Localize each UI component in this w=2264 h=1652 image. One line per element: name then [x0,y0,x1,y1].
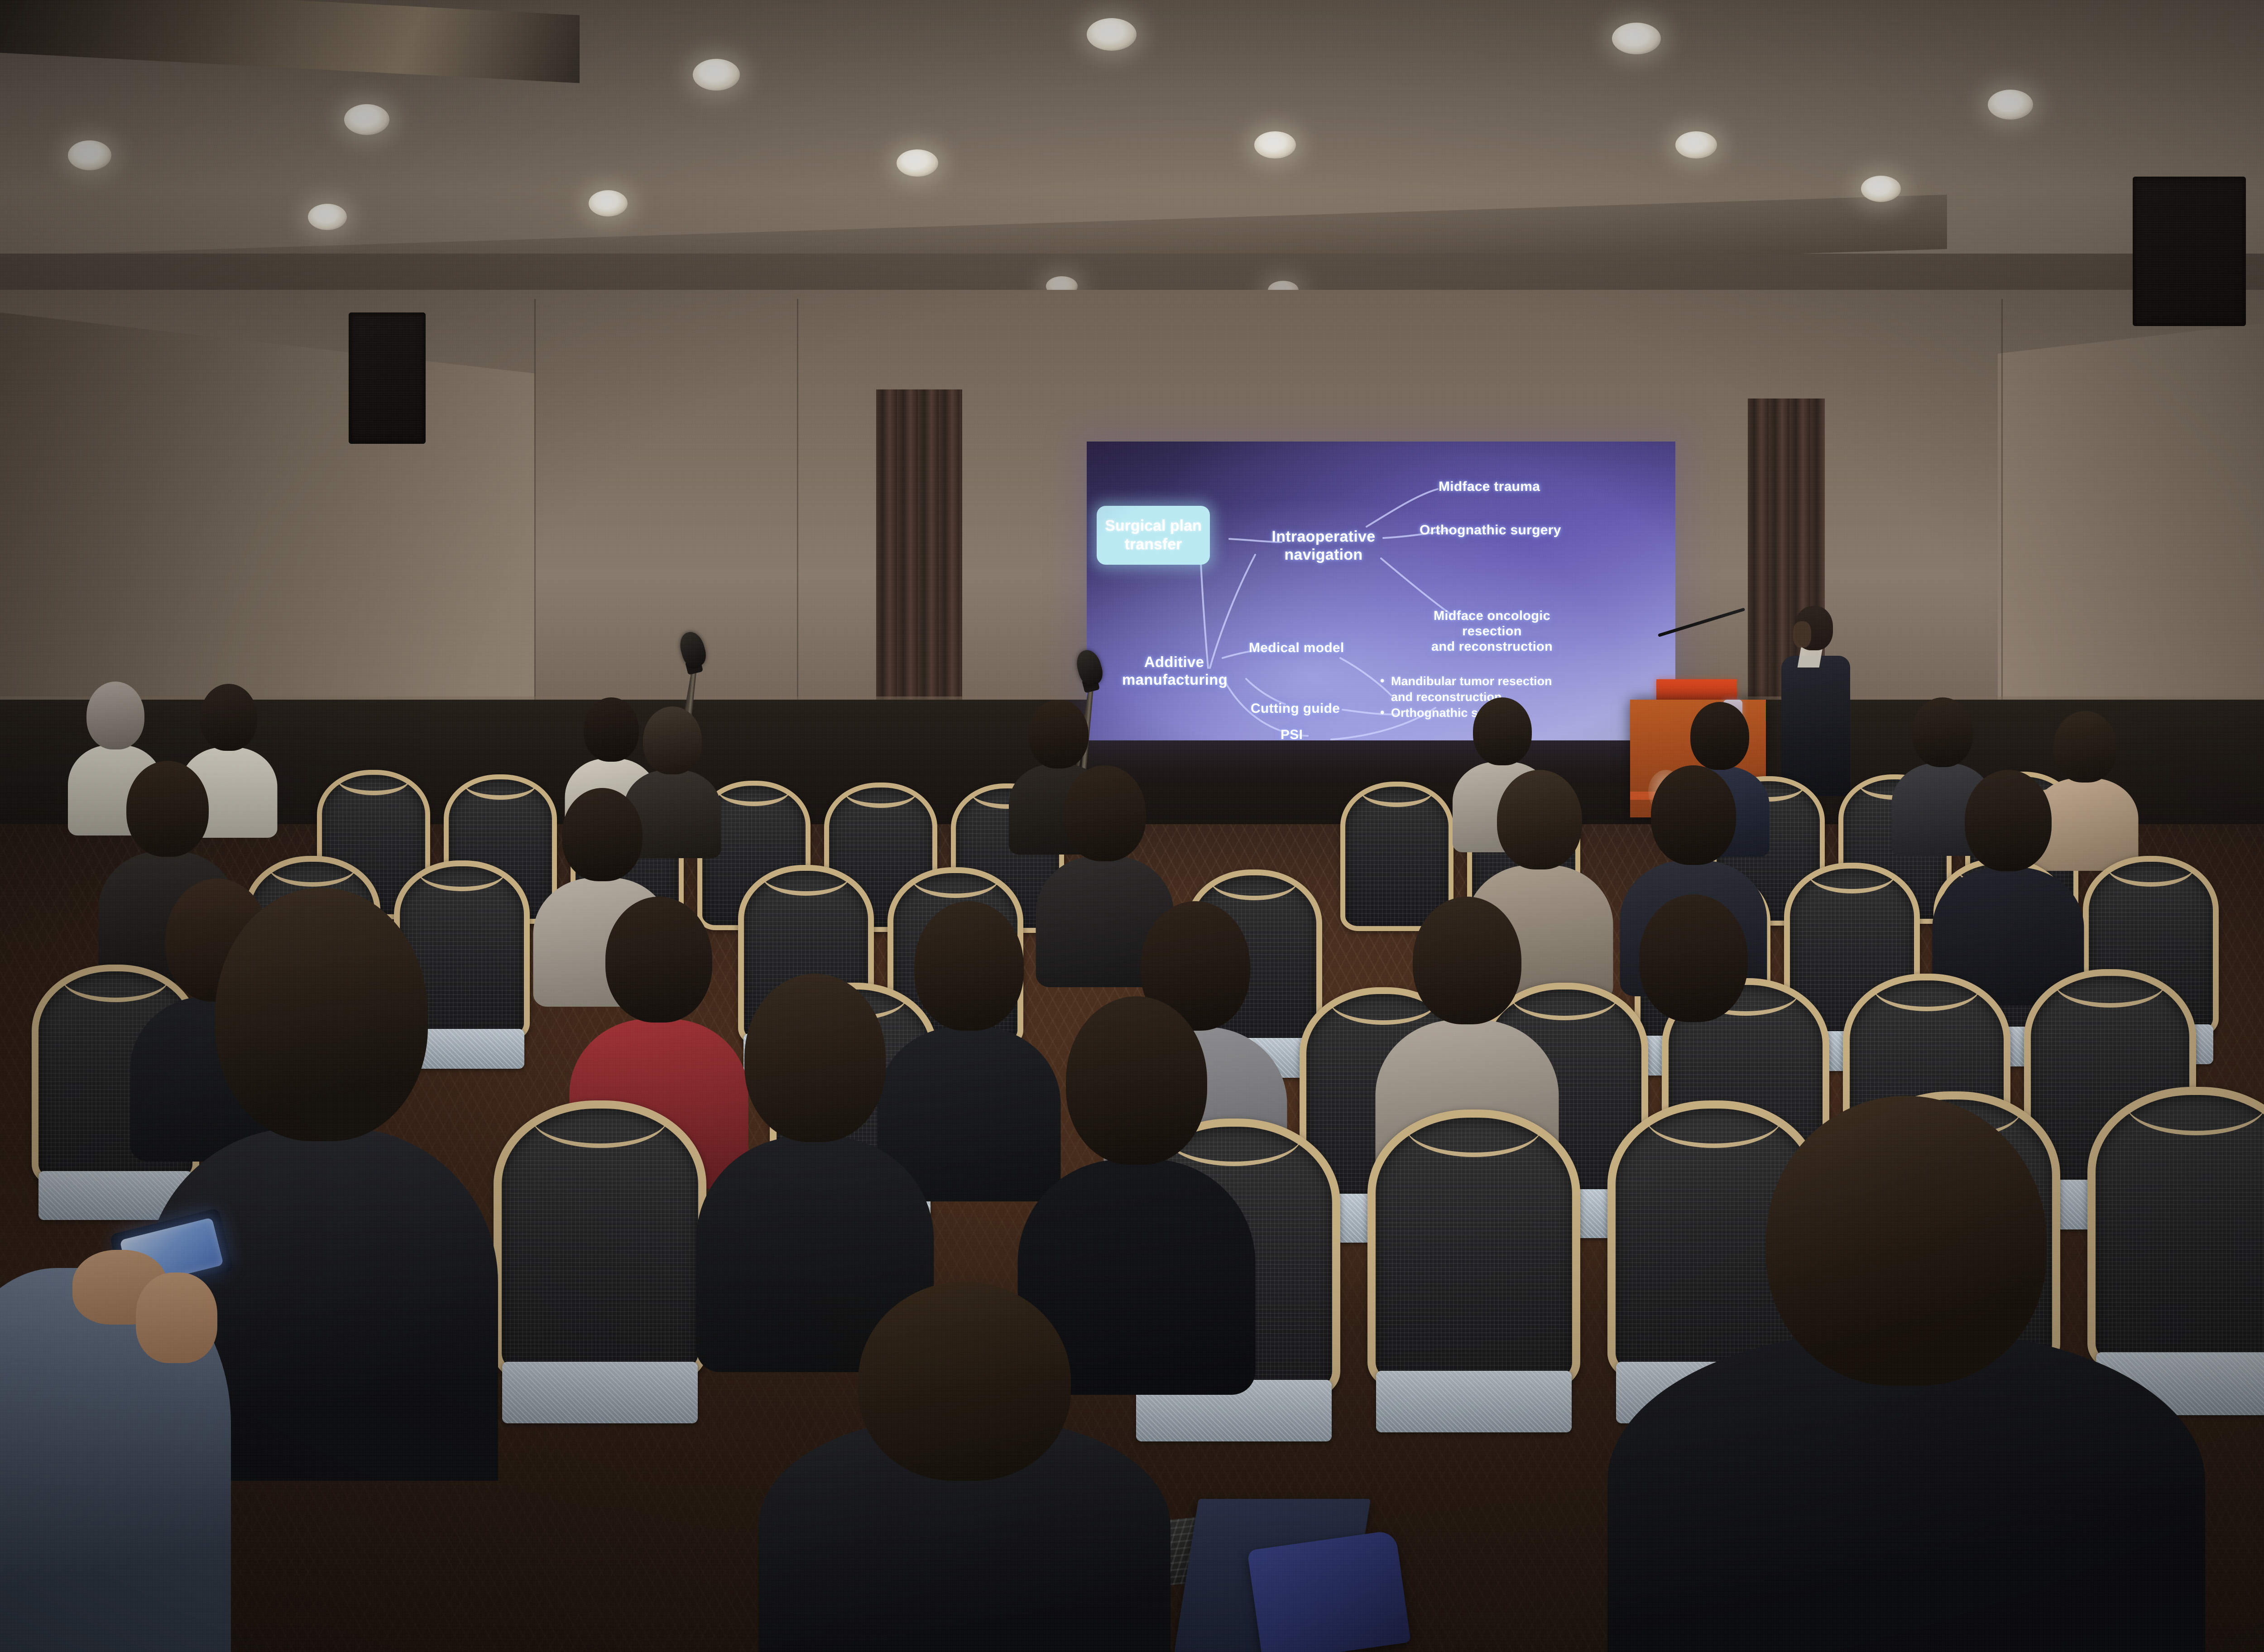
screen-vignette [1087,442,1675,740]
ceiling-downlight [897,149,938,177]
attendee-head [1064,765,1146,861]
attendee-head [1413,897,1521,1024]
attendee-head [1639,894,1748,1022]
wall-speaker-right [2133,177,2246,326]
ceiling-downlight [1087,18,1137,51]
attendee-head [744,974,886,1142]
ceiling-downlight [1988,90,2033,120]
attendee-head [562,788,643,881]
ceiling-downlight [1254,131,1296,158]
wall-speaker-left [349,312,426,444]
stage-curtain-left [876,389,962,734]
ceiling-downlight [589,190,628,216]
attendee-head [605,897,712,1023]
ceiling-downlight [1861,176,1901,202]
attendee [1933,770,2083,1001]
ceiling-downlight [1675,131,1717,158]
attendee-head [858,1282,1071,1481]
attendee-head [126,761,209,857]
ceiling-downlight [693,59,740,91]
microphone-head-icon [676,629,709,669]
ceiling-downlight [344,104,389,135]
chair[interactable] [1367,1109,1580,1390]
attendee-head [1066,996,1207,1165]
microphone-head-icon [1073,647,1105,687]
attendee-foreground-center [761,1282,1168,1652]
attendee-head [1497,770,1582,869]
conference-room-scene: Surgical plan transfer Intraoperative na… [0,0,2264,1652]
hand [136,1273,217,1363]
presenter-face [1793,621,1811,648]
attendee-head [1473,697,1532,765]
attendee-head [215,888,428,1141]
ceiling-downlight [308,204,347,230]
attendee-foreground-right [1612,1096,2201,1652]
attendee-head [1029,700,1089,768]
bag [1247,1530,1411,1652]
chair[interactable] [494,1100,706,1381]
ceiling-downlight [1612,23,1661,54]
attendee-head [1690,702,1749,770]
attendee-head [200,684,257,751]
attendee-head [1766,1096,2047,1386]
ceiling-downlight [68,140,111,170]
attendee-foreground-far-left [0,1078,226,1652]
attendee-head [1912,697,1973,767]
attendee-head [643,706,702,774]
attendee-head [1651,765,1736,865]
presenter [1780,606,1852,796]
attendee-head [1965,770,2052,871]
projection-screen: Surgical plan transfer Intraoperative na… [1087,442,1675,740]
attendee-head [86,682,144,749]
